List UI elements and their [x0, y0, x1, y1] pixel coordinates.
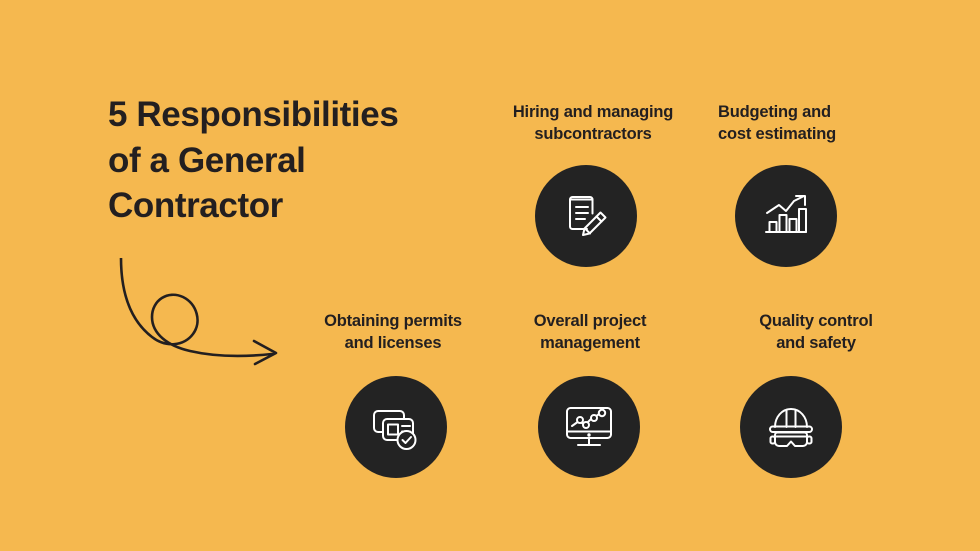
title-line-3: Contractor [108, 183, 488, 229]
card-label-line-2: subcontractors [534, 125, 651, 143]
card-label-project-management: Overall project management [487, 310, 693, 355]
icon-badge-project-management[interactable] [538, 376, 640, 478]
card-label-line-2: and licenses [345, 334, 442, 352]
icon-badge-quality-safety[interactable] [740, 376, 842, 478]
card-label-permits: Obtaining permits and licenses [290, 310, 496, 355]
curved-loop-arrow-icon [104, 258, 304, 370]
card-label-line-2: management [540, 334, 640, 352]
card-label-line-2: cost estimating [718, 125, 836, 143]
icon-badge-budgeting[interactable] [735, 165, 837, 267]
card-label-line-1: Hiring and managing [513, 103, 673, 121]
infographic-canvas: 5 Responsibilities of a General Contract… [0, 0, 980, 551]
monitor-analytics-icon [561, 399, 617, 455]
id-cards-check-icon [367, 398, 425, 456]
page-title: 5 Responsibilities of a General Contract… [108, 92, 488, 229]
bar-chart-growth-icon [758, 188, 814, 244]
card-label-budgeting: Budgeting and cost estimating [718, 101, 908, 146]
card-label-line-1: Quality control [759, 312, 872, 330]
card-label-line-1: Budgeting and [718, 103, 831, 121]
title-line-2: of a General [108, 138, 488, 184]
document-pencil-icon [558, 188, 614, 244]
card-label-hiring: Hiring and managing subcontractors [487, 101, 699, 146]
card-label-line-1: Obtaining permits [324, 312, 462, 330]
card-label-line-1: Overall project [534, 312, 647, 330]
icon-badge-permits[interactable] [345, 376, 447, 478]
hardhat-goggles-icon [762, 398, 820, 456]
card-label-line-2: and safety [776, 334, 856, 352]
card-label-quality-safety: Quality control and safety [713, 310, 919, 355]
icon-badge-hiring[interactable] [535, 165, 637, 267]
title-line-1: 5 Responsibilities [108, 92, 488, 138]
